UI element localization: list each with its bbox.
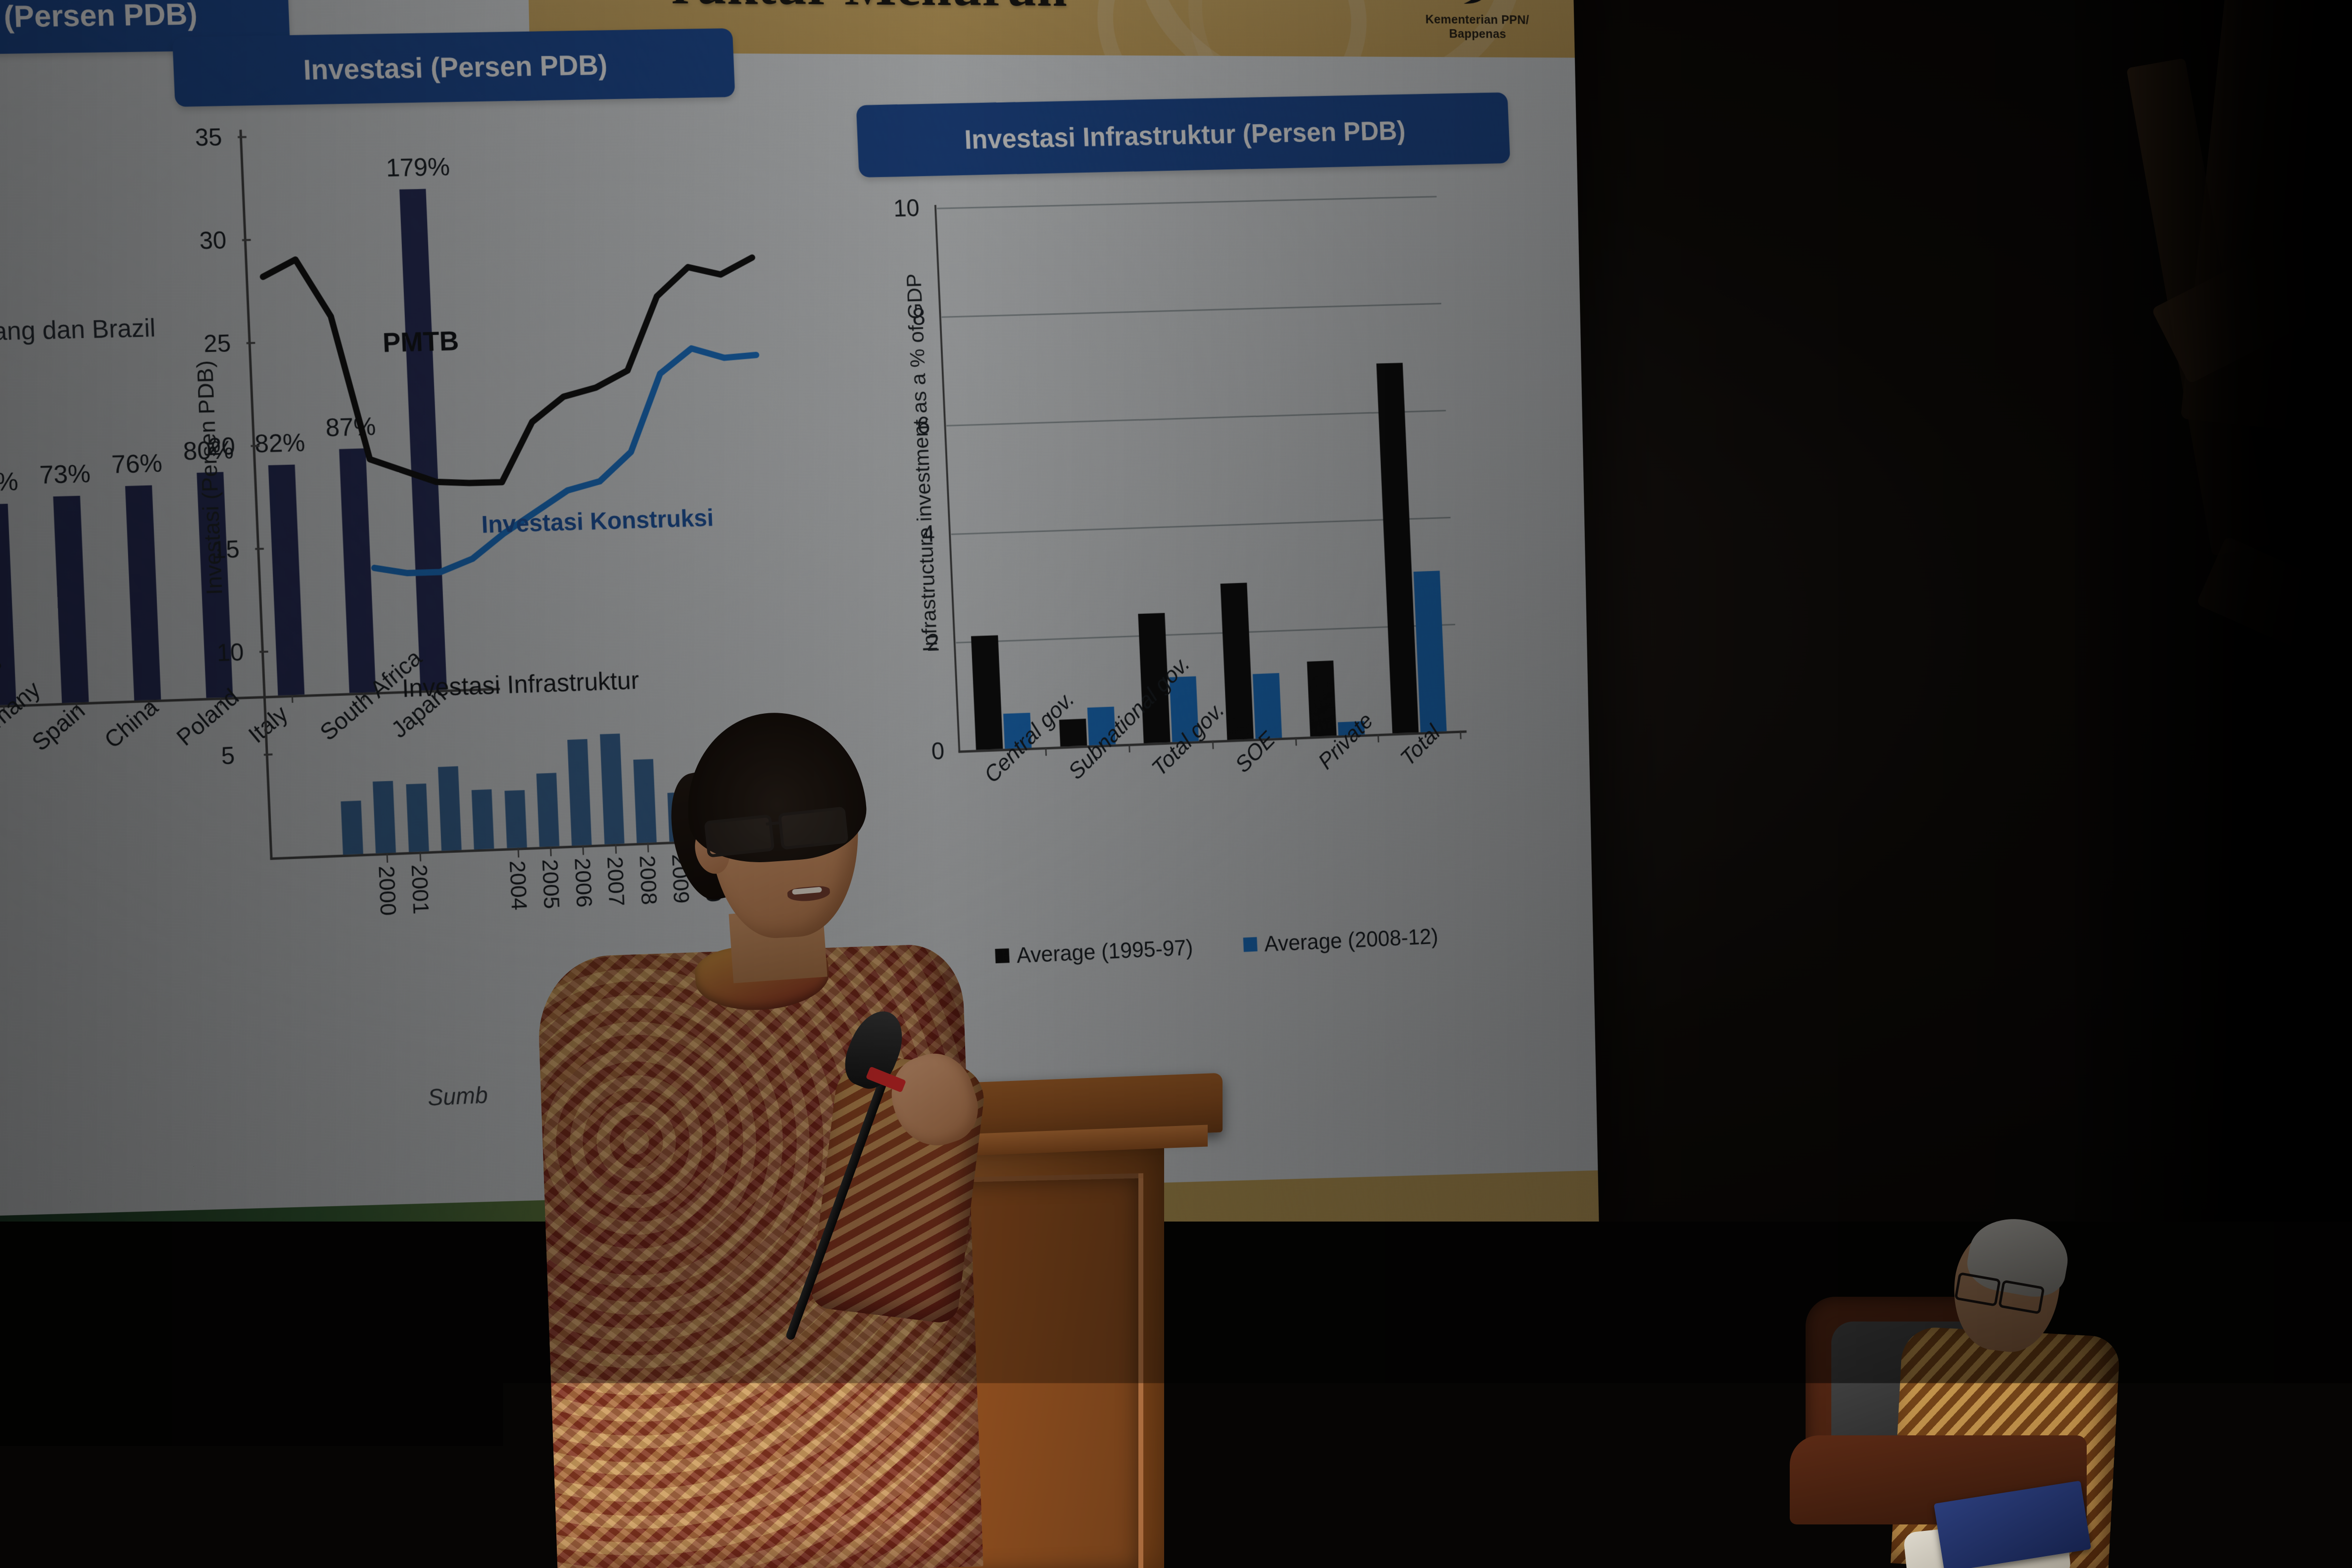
panel-title-left-text: ruktur (Persen PDB) — [0, 0, 198, 37]
bappenas-logo: Kementerian PPN/ Bappenas — [1410, 0, 1543, 42]
panel-title-middle-text: Investasi (Persen PDB) — [303, 49, 608, 86]
series-label-pmtb: PMTB — [382, 325, 459, 358]
table-row — [1307, 660, 1336, 736]
table-row — [1253, 673, 1282, 738]
seated-attendee — [1782, 1223, 2198, 1568]
right-chart-legend: Average (1995-97)Average (2008-12) — [995, 923, 1439, 969]
gridline — [946, 410, 1446, 426]
bappenas-mark-icon — [1442, 0, 1511, 10]
header-swirl-decoration — [1095, 0, 1369, 58]
left-chart-source: Sumb — [427, 1082, 489, 1112]
axis-tick-label: 2004 — [504, 860, 532, 911]
speaker-person — [547, 713, 1002, 1568]
slide-title: ruktur Menurun — [670, 0, 1068, 20]
table-row — [1376, 363, 1419, 733]
right-chart-category-labels: Central gov.Subnational gov.Total gov.SO… — [864, 182, 1497, 197]
bar-value-label: 71% — [0, 467, 19, 498]
table-row — [1059, 719, 1086, 747]
panel-title-right: Investasi Infrastruktur (Persen PDB) — [856, 93, 1511, 178]
bar-value-label: 73% — [39, 459, 91, 490]
axis-tick-label: 8 — [912, 302, 926, 331]
gridline — [951, 517, 1451, 535]
bar-value-label: 76% — [111, 448, 163, 479]
axis-tick-label: 2 — [926, 628, 940, 656]
right-chart-bars — [864, 182, 1497, 197]
right-chart-gridlines — [864, 182, 1497, 197]
table-row — [53, 496, 89, 703]
legend-item: Average (1995-97) — [995, 934, 1194, 969]
presentation-scene: ruktur Menurun Kementerian PPN/ Bappenas — [0, 0, 2352, 1568]
legend-item: Average (2008-12) — [1243, 923, 1439, 958]
axis-tick-label: 10 — [893, 194, 920, 223]
table-row — [0, 503, 16, 705]
gridline — [937, 196, 1437, 209]
table-row — [1414, 571, 1447, 732]
axis-tick-label: 2000 — [374, 865, 402, 916]
line-series — [262, 249, 761, 489]
panel-title-middle: Investasi (Persen PDB) — [172, 28, 735, 107]
gridline — [956, 624, 1455, 643]
right-chart-ytick-labels: 0246810 — [864, 182, 1497, 197]
panel-title-right-text: Investasi Infrastruktur (Persen PDB) — [964, 114, 1406, 154]
legend-swatch — [1243, 937, 1257, 952]
bappenas-label-line2: Bappenas — [1412, 27, 1543, 42]
axis-tick-label: 2001 — [406, 864, 435, 915]
legend-label: Average (2008-12) — [1264, 923, 1438, 957]
table-row — [125, 485, 161, 700]
gridline — [941, 303, 1441, 318]
bappenas-label-line1: Kementerian PPN/ — [1412, 12, 1543, 27]
line-series — [365, 347, 765, 574]
axis-tick-label: 4 — [921, 520, 935, 548]
legend-label: Average (1995-97) — [1016, 934, 1194, 968]
axis-tick-label: 6 — [917, 411, 931, 439]
